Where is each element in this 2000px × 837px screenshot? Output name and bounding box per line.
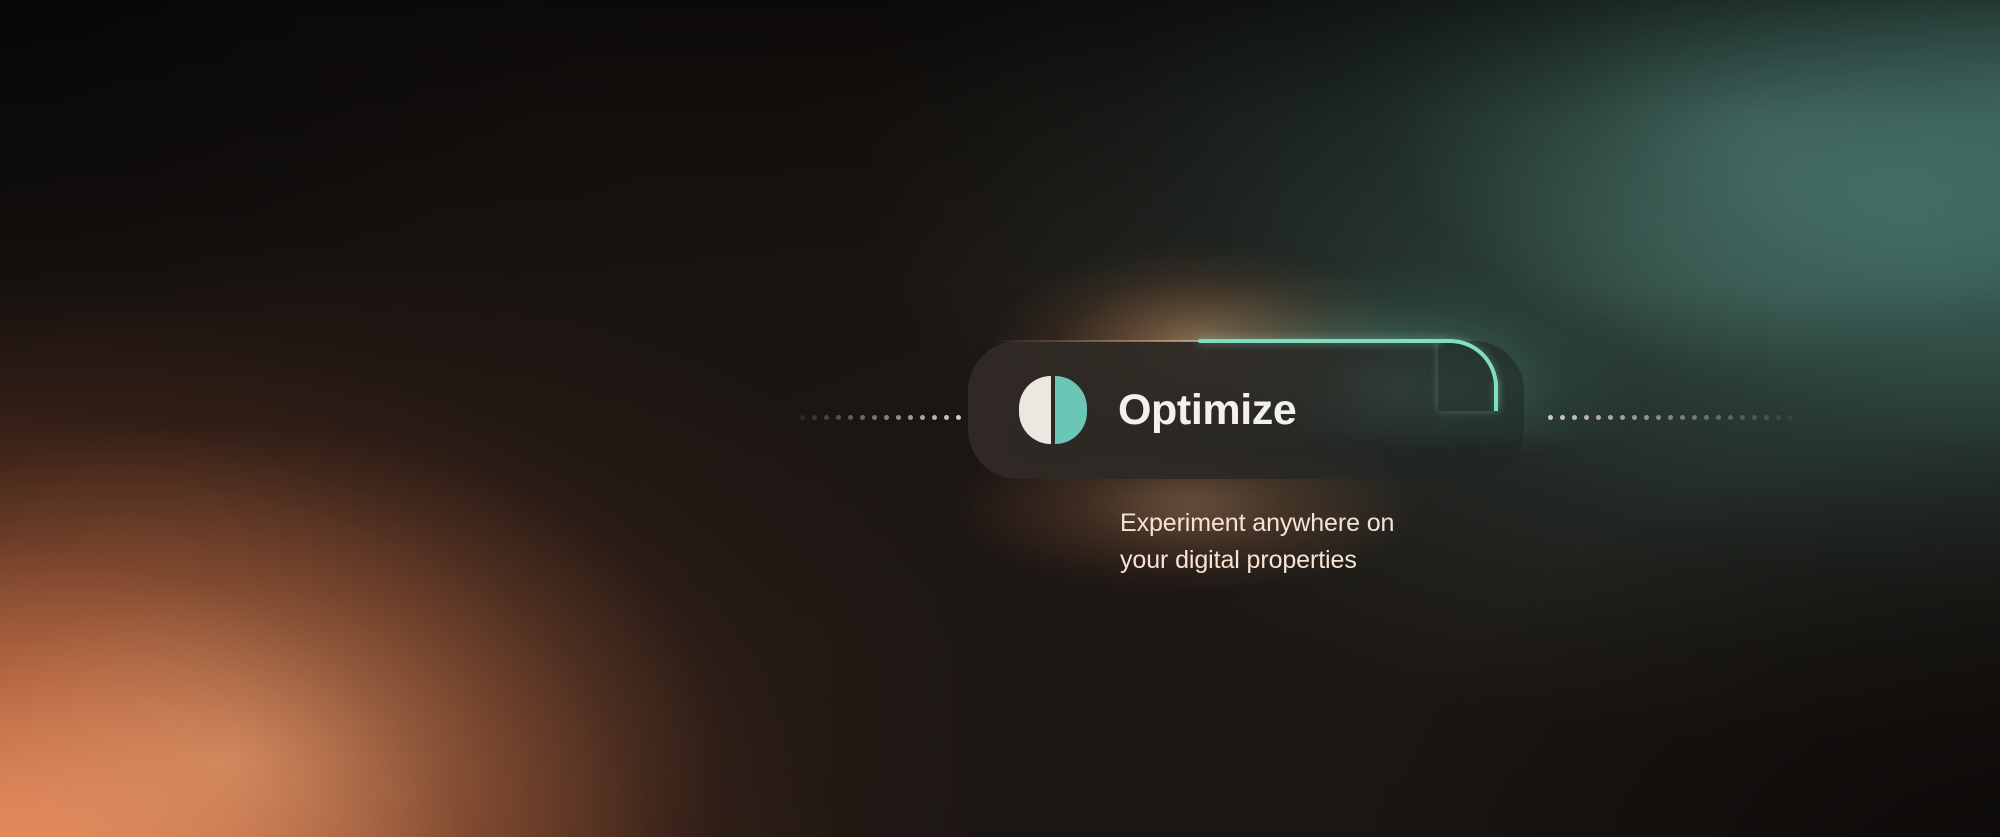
- connector-dot: [908, 415, 913, 420]
- connector-dot: [1644, 415, 1649, 420]
- connector-dot: [812, 415, 817, 420]
- optimize-logo-icon: [1019, 376, 1087, 444]
- teal-accent-corner: [1438, 339, 1498, 411]
- connector-dot: [800, 415, 805, 420]
- connector-dot: [848, 415, 853, 420]
- connector-dot: [1752, 415, 1757, 420]
- connector-dot: [824, 415, 829, 420]
- connector-dot: [1692, 415, 1697, 420]
- connector-dot: [884, 415, 889, 420]
- connector-dot: [932, 415, 937, 420]
- connector-dot: [1728, 415, 1733, 420]
- logo-right-half: [1055, 376, 1087, 444]
- connector-dot: [1608, 415, 1613, 420]
- connector-dot: [860, 415, 865, 420]
- connector-dot: [872, 415, 877, 420]
- connector-dot: [1776, 415, 1781, 420]
- connector-dot: [1620, 415, 1625, 420]
- connector-dot: [944, 415, 949, 420]
- connector-dot: [836, 415, 841, 420]
- connector-dot: [1596, 415, 1601, 420]
- connector-dot: [1656, 415, 1661, 420]
- subtitle-line-1: Experiment anywhere on: [1120, 505, 1480, 542]
- subtitle-line-2: your digital properties: [1120, 542, 1480, 579]
- connector-dot: [1716, 415, 1721, 420]
- connector-dot: [1668, 415, 1673, 420]
- connector-dot: [1740, 415, 1745, 420]
- connector-dots-left: [800, 414, 968, 421]
- connector-dot: [1560, 415, 1565, 420]
- connector-dot: [920, 415, 925, 420]
- card-title: Optimize: [1118, 383, 1296, 437]
- connector-dot: [1584, 415, 1589, 420]
- teal-accent-tail: [1494, 381, 1498, 411]
- connector-dot: [1704, 415, 1709, 420]
- connector-dot: [1548, 415, 1553, 420]
- optimize-card[interactable]: Optimize: [968, 341, 1524, 479]
- connector-dot: [1764, 415, 1769, 420]
- connector-dots-right: [1548, 414, 1800, 421]
- connector-dot: [1788, 415, 1793, 420]
- teal-accent-line: [1198, 339, 1443, 343]
- connector-dot: [956, 415, 961, 420]
- connector-dot: [1572, 415, 1577, 420]
- card-top-edge-highlight: [990, 340, 1226, 342]
- promo-banner: Optimize Experiment anywhere on your dig…: [0, 0, 2000, 837]
- logo-left-half: [1019, 376, 1051, 444]
- connector-dot: [1680, 415, 1685, 420]
- card-subtitle: Experiment anywhere on your digital prop…: [1120, 505, 1480, 579]
- connector-dot: [1632, 415, 1637, 420]
- connector-dot: [896, 415, 901, 420]
